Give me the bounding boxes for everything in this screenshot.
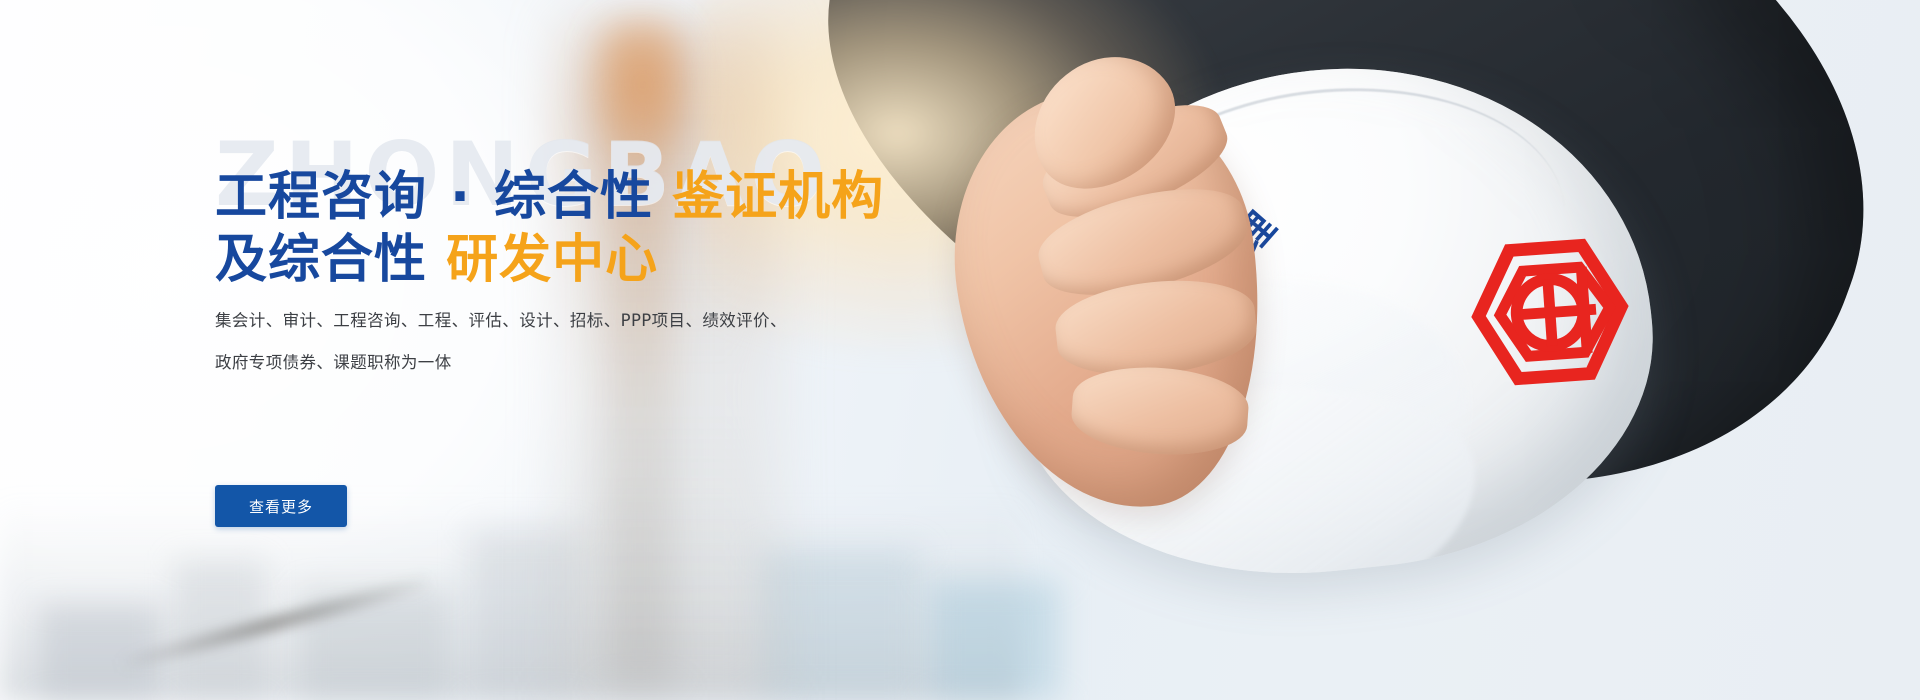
description: 集会计、审计、工程咨询、工程、评估、设计、招标、PPP项目、绩效评价、 政府专项… (215, 300, 815, 384)
view-more-button[interactable]: 查看更多 (215, 485, 347, 527)
headline-segment-orange: 鉴证机构 (672, 167, 884, 227)
hero-banner: 中宝工程管理 ZHONGBAO 工程咨询 · 综合性 鉴证机构 (0, 0, 1920, 700)
headline-segment-blue-3: 及综合性 (215, 230, 427, 290)
headline: 工程咨询 · 综合性 鉴证机构 及综合性 研发中心 (215, 166, 1035, 293)
headline-segment-blue-2: 综合性 (494, 167, 653, 227)
headline-separator-dot: · (446, 167, 475, 227)
headline-line-2: 及综合性 研发中心 (215, 229, 1035, 292)
zhongbao-hexagon-logo (1461, 230, 1639, 393)
hero-content: ZHONGBAO 工程咨询 · 综合性 鉴证机构 及综合性 研发中心 集会计、审… (265, 0, 1005, 700)
headline-segment-orange-2: 研发中心 (446, 230, 658, 290)
description-line-1: 集会计、审计、工程咨询、工程、评估、设计、招标、PPP项目、绩效评价、 (215, 300, 815, 342)
headline-line-1: 工程咨询 · 综合性 鉴证机构 (215, 166, 1035, 229)
headline-segment-blue: 工程咨询 (215, 167, 427, 227)
description-line-2: 政府专项债券、课题职称为一体 (215, 342, 815, 384)
